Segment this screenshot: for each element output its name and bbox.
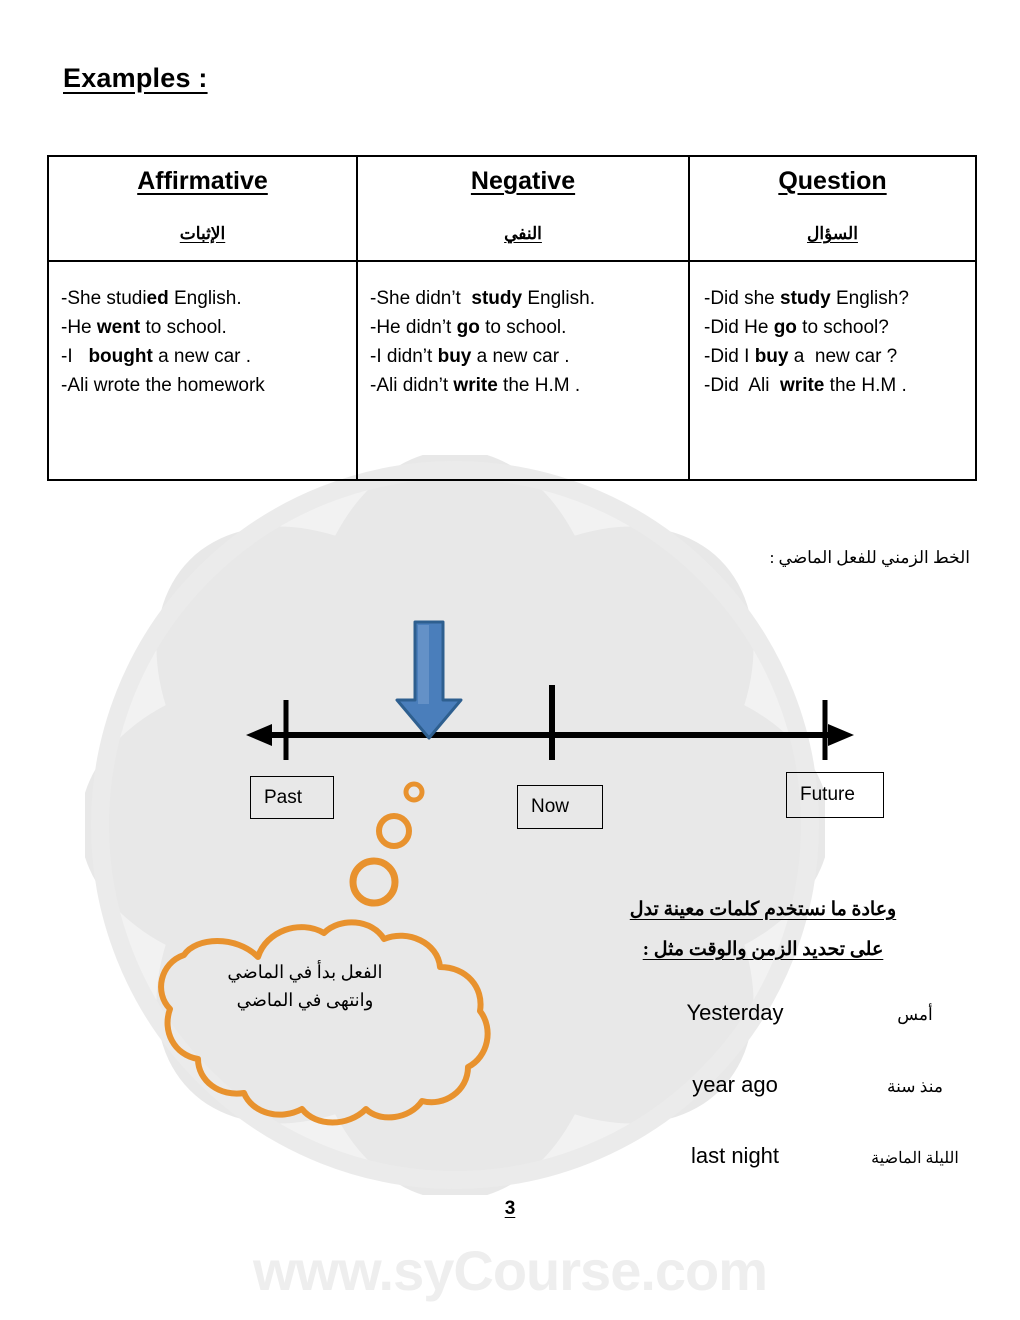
thought-bubble-medium [379,816,409,846]
example-sentence: -Did He go to school? [704,313,975,342]
time-word-en: year ago [610,1072,860,1098]
past-point-arrow [397,622,461,738]
time-word-ar: الليلة الماضية [860,1148,970,1168]
time-word-row: last night الليلة الماضية [610,1143,970,1169]
time-word-row: Yesterday أمس [610,1000,970,1026]
time-word-ar: منذ سنة [860,1077,970,1097]
header-label-en: Affirmative [49,167,356,196]
example-sentence: -Ali didn’t write the H.M . [370,371,688,400]
time-word-en: last night [610,1143,860,1169]
header-label-ar: النفي [358,224,688,244]
example-sentence: -Did Ali write the H.M . [704,371,975,400]
time-word-row: year ago منذ سنة [610,1072,970,1098]
example-sentence: -She didn’t study English. [370,284,688,313]
table-cell-affirmative: -She studied English.-He went to school.… [48,261,357,480]
example-sentence: -He went to school. [61,313,356,342]
table-header-row: Affirmative الإثبات Negative النفي Quest… [48,156,976,261]
time-words-heading: وعادة ما نستخدم كلمات معينة تدل على تحدي… [563,890,963,970]
timeline-right-arrowhead [828,724,854,746]
timeline-label-now-text: Now [531,796,569,818]
time-word-en: Yesterday [610,1000,860,1026]
header-label-en: Negative [358,167,688,196]
document-page: www.syCourse.com Examples : Affirmative … [0,0,1020,1320]
thought-bubble-large [353,861,395,903]
timeline-label-past: Past [250,776,334,819]
example-sentence: -Did she study English? [704,284,975,313]
example-sentence: -I didn’t buy a new car . [370,342,688,371]
thought-bubble-small [406,784,422,800]
time-words-heading-line1: وعادة ما نستخدم كلمات معينة تدل [630,899,896,920]
table-header-question: Question السؤال [689,156,976,261]
example-sentence: -Ali wrote the homework [61,371,356,400]
table-cell-question: -Did she study English?-Did He go to sch… [689,261,976,480]
timeline-label-future-text: Future [800,784,855,806]
timeline-caption: الخط الزمني للفعل الماضي : [770,548,970,568]
table-header-affirmative: Affirmative الإثبات [48,156,357,261]
examples-table: Affirmative الإثبات Negative النفي Quest… [47,155,977,481]
example-sentence: -I bought a new car . [61,342,356,371]
example-sentence: -Did I buy a new car ? [704,342,975,371]
timeline-graphic [230,600,870,760]
table-cell-negative: -She didn’t study English.-He didn’t go … [357,261,689,480]
header-label-en: Question [690,167,975,196]
table-body-row: -She studied English.-He went to school.… [48,261,976,480]
table-header-negative: Negative النفي [357,156,689,261]
time-words-heading-line2: على تحديد الزمن والوقت مثل : [643,939,884,960]
timeline-label-future: Future [786,772,884,818]
example-sentence: -She studied English. [61,284,356,313]
timeline-label-past-text: Past [264,787,302,809]
timeline-label-now: Now [517,785,603,829]
page-title: Examples : [63,63,208,94]
header-label-ar: السؤال [690,224,975,244]
thought-cloud-text: الفعل بدأ في الماضي وانتهى في الماضي [225,958,385,1014]
thought-bubble-trail [340,770,460,910]
thought-cloud-shape [140,905,500,1135]
timeline-left-arrowhead [246,724,272,746]
example-sentence: -He didn’t go to school. [370,313,688,342]
page-number: 3 [0,1198,1020,1220]
header-label-ar: الإثبات [49,224,356,244]
time-word-ar: أمس [860,1005,970,1025]
site-watermark: www.syCourse.com [0,1238,1020,1303]
